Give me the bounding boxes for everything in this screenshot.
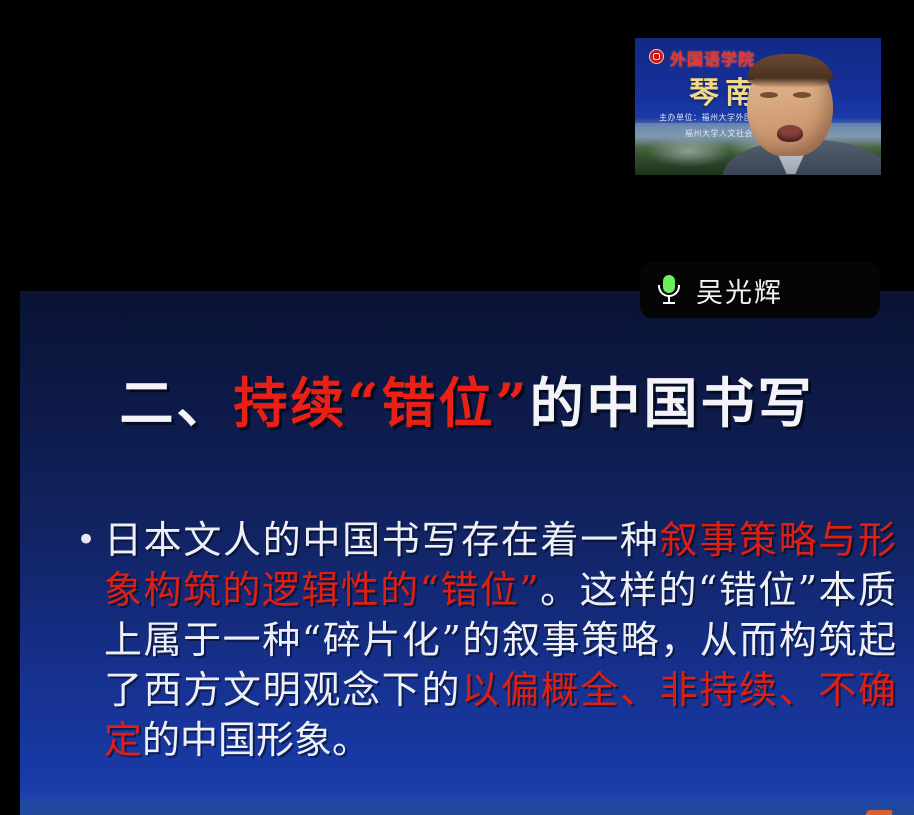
- text-run-2: 的中国书写: [530, 371, 815, 435]
- stage-left-gutter: [0, 291, 20, 815]
- speaker-eye-left: [760, 92, 778, 98]
- slide-footer-band: [20, 793, 914, 815]
- slide-body: • 日本文人的中国书写存在着一种叙事策略与形象构筑的逻辑性的“错位”。这样的“错…: [76, 515, 896, 765]
- shared-slide[interactable]: 二、持续“错位”的中国书写 • 日本文人的中国书写存在着一种叙事策略与形象构筑的…: [20, 291, 914, 815]
- text-run-0: 二、: [119, 371, 233, 435]
- text-run-1: 持续“错位”: [233, 371, 529, 435]
- text-run-0: 日本文人的中国书写存在着一种: [104, 518, 660, 562]
- speaker-figure: [731, 56, 881, 175]
- text-run-4: 的中国形象。: [142, 718, 370, 762]
- speaker-mouth: [777, 125, 803, 142]
- video-meeting-screen: 外国语学院 琴南论坛 主办单位：福州大学外国语学院 福州大学人文社会科学学院 吴…: [0, 0, 914, 815]
- bullet-marker: •: [76, 515, 104, 565]
- microphone-icon: [658, 275, 680, 305]
- institution-seal-icon: [649, 49, 664, 64]
- participant-name-plate[interactable]: 吴光辉: [640, 262, 880, 318]
- slide-title: 二、持续“错位”的中国书写: [20, 376, 914, 430]
- participant-video-tile[interactable]: 外国语学院 琴南论坛 主办单位：福州大学外国语学院 福州大学人文社会科学学院: [635, 38, 881, 175]
- speaker-eye-right: [793, 92, 811, 98]
- speaker-hair: [747, 54, 833, 88]
- slide-body-paragraph: 日本文人的中国书写存在着一种叙事策略与形象构筑的逻辑性的“错位”。这样的“错位”…: [104, 515, 896, 765]
- participant-name-label: 吴光辉: [696, 271, 783, 310]
- slide-accent-mark: [865, 810, 893, 815]
